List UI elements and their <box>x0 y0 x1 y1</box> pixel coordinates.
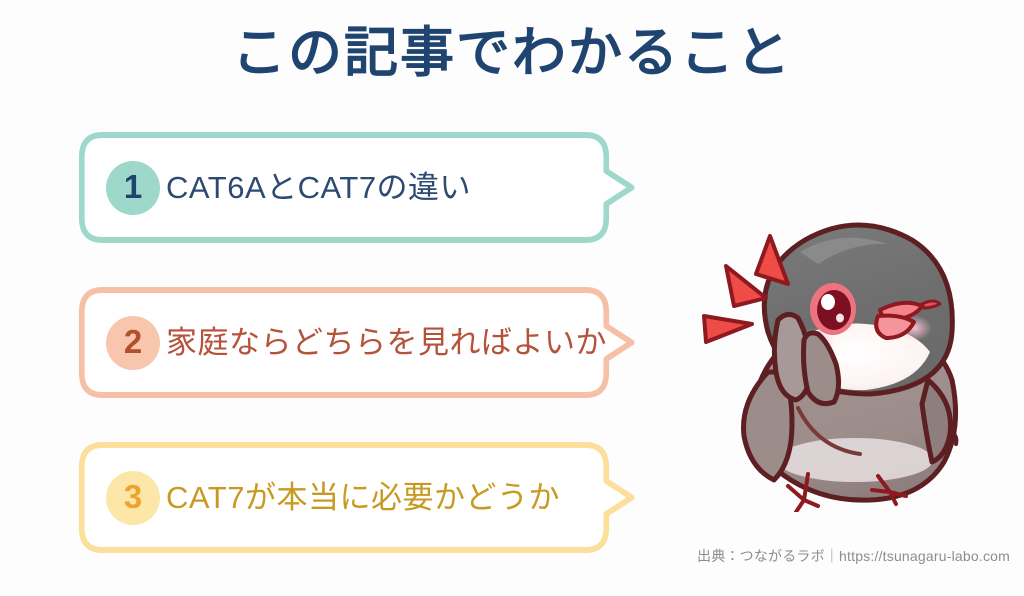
source-credit: 出典：つながるラボ｜https://tsunagaru-labo.com <box>697 546 1010 566</box>
bubble-content: 2 家庭ならどちらを見ればよいか <box>78 286 643 399</box>
java-sparrow-icon <box>700 212 1020 512</box>
bird-eye-icon <box>810 283 856 335</box>
badge-number: 1 <box>124 170 142 203</box>
bubble-label: CAT6AとCAT7の違い <box>166 169 471 206</box>
bubble-label: 家庭ならどちらを見ればよいか <box>166 324 607 361</box>
bubble-label: CAT7が本当に必要かどうか <box>166 479 560 516</box>
list-item[interactable]: 2 家庭ならどちらを見ればよいか <box>78 286 643 399</box>
number-badge: 3 <box>106 471 160 525</box>
badge-number: 3 <box>124 480 142 513</box>
bubble-content: 3 CAT7が本当に必要かどうか <box>78 441 643 554</box>
page-title: この記事でわかること <box>0 22 1024 84</box>
number-badge: 2 <box>106 316 160 370</box>
bubble-content: 1 CAT6AとCAT7の違い <box>78 131 643 244</box>
bubble-list: 1 CAT6AとCAT7の違い 2 家庭ならどちらを見ればよいか <box>78 131 668 596</box>
list-item[interactable]: 1 CAT6AとCAT7の違い <box>78 131 643 244</box>
slide-canvas: この記事でわかること 1 CAT6AとCAT7の違い 2 <box>0 0 1024 576</box>
badge-number: 2 <box>124 325 142 358</box>
list-item[interactable]: 3 CAT7が本当に必要かどうか <box>78 441 643 554</box>
number-badge: 1 <box>106 161 160 215</box>
